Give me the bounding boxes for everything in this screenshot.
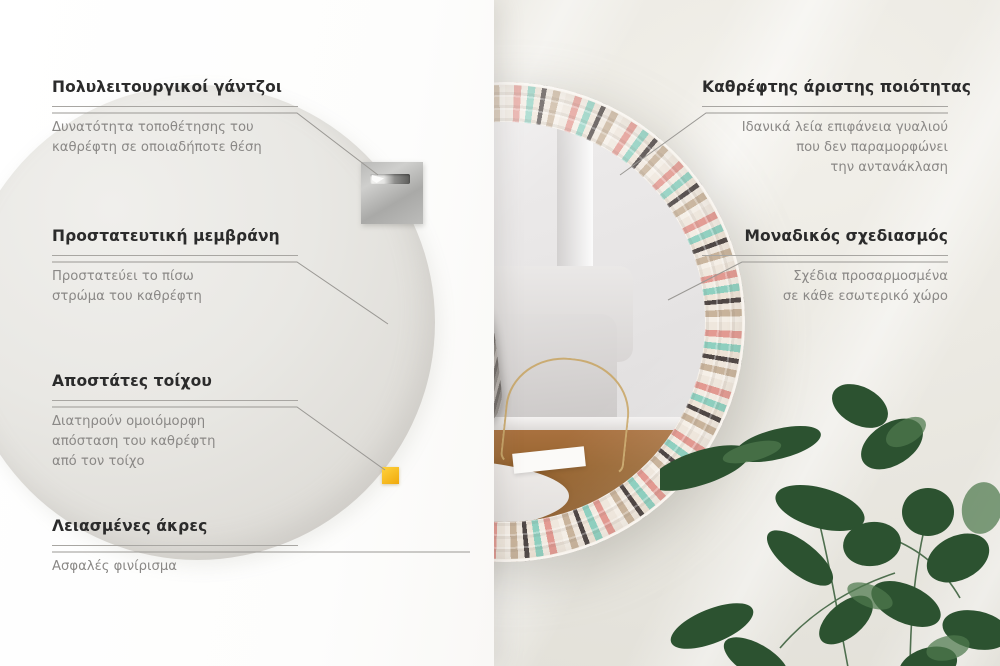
callout-protective-membrane: Προστατευτική μεμβράνη Προστατεύει το πί… [52,227,298,307]
callout-multifunctional-hooks: Πολυλειτουργικοί γάντζοι Δυνατότητα τοπο… [52,78,298,158]
callout-smoothed-edges: Λειασμένες άκρες Ασφαλές φινίρισμα [52,517,298,577]
callout-description: Ασφαλές φινίρισμα [52,557,298,577]
callout-rule [52,400,298,401]
infographic-canvas: Πολυλειτουργικοί γάντζοι Δυνατότητα τοπο… [0,0,1000,666]
yellow-wall-spacer-marker [382,467,399,484]
hanging-bracket-marker [361,162,423,224]
callout-title: Μοναδικός σχεδιασμός [702,227,948,246]
callout-rule [702,106,948,107]
callout-rule [52,545,298,546]
callout-title: Πολυλειτουργικοί γάντζοι [52,78,298,97]
callout-description: Διατηρούν ομοιόμορφη απόσταση του καθρέφ… [52,412,298,472]
callout-wall-spacers: Αποστάτες τοίχου Διατηρούν ομοιόμορφη απ… [52,372,298,472]
callout-title: Λειασμένες άκρες [52,517,298,536]
callout-title: Προστατευτική μεμβράνη [52,227,298,246]
callout-rule [52,255,298,256]
callout-description: Προστατεύει το πίσω στρώμα του καθρέφτη [52,267,298,307]
callout-title: Αποστάτες τοίχου [52,372,298,391]
callout-rule [702,255,948,256]
callout-description: Ιδανικά λεία επιφάνεια γυαλιού που δεν π… [702,118,948,178]
callout-rule [52,106,298,107]
callout-description: Δυνατότητα τοποθέτησης του καθρέφτη σε ο… [52,118,298,158]
callout-unique-design: Μοναδικός σχεδιασμός Σχέδια προσαρμοσμέν… [702,227,948,307]
callout-title: Καθρέφτης άριστης ποιότητας [702,78,948,97]
bracket-keyhole-slot [370,174,410,184]
callout-description: Σχέδια προσαρμοσμένα σε κάθε εσωτερικό χ… [702,267,948,307]
callout-top-quality-mirror: Καθρέφτης άριστης ποιότητας Ιδανικά λεία… [702,78,948,178]
